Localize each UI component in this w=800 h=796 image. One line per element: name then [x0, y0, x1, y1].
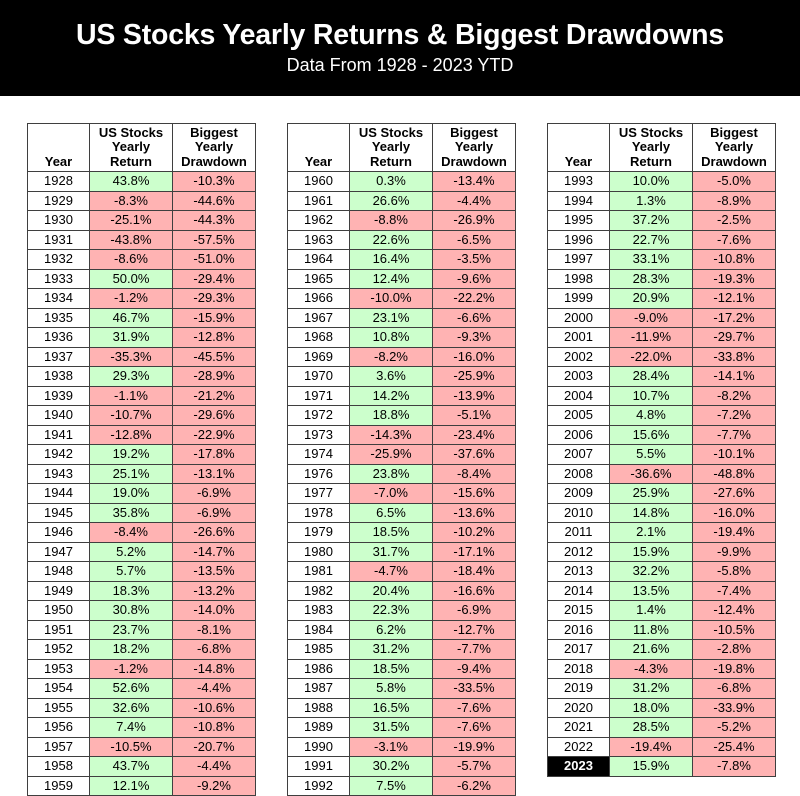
year-cell: 1993	[548, 172, 610, 192]
biggest-drawdown-cell: -5.1%	[433, 406, 516, 426]
yearly-return-cell: -22.0%	[610, 347, 693, 367]
biggest-drawdown-cell: -19.3%	[693, 269, 776, 289]
year-cell: 1987	[288, 679, 350, 699]
year-cell: 1964	[288, 250, 350, 270]
year-cell: 1960	[288, 172, 350, 192]
yearly-return-cell: 31.7%	[350, 542, 433, 562]
yearly-return-cell: 30.2%	[350, 757, 433, 777]
biggest-drawdown-cell: -13.6%	[433, 503, 516, 523]
yearly-return-cell: -25.9%	[350, 445, 433, 465]
table-row: 194419.0%-6.9%	[28, 484, 256, 504]
header-line: Drawdown	[433, 155, 515, 170]
biggest-drawdown-cell: -29.3%	[173, 289, 256, 309]
yearly-return-cell: 20.9%	[610, 289, 693, 309]
biggest-drawdown-cell: -48.8%	[693, 464, 776, 484]
biggest-drawdown-cell: -7.2%	[693, 406, 776, 426]
yearly-return-cell: 5.7%	[90, 562, 173, 582]
biggest-drawdown-cell: -8.2%	[693, 386, 776, 406]
biggest-drawdown-cell: -12.7%	[433, 620, 516, 640]
page-title: US Stocks Yearly Returns & Biggest Drawd…	[76, 21, 724, 51]
year-cell: 1932	[28, 250, 90, 270]
year-cell: 1951	[28, 620, 90, 640]
table-row: 194535.8%-6.9%	[28, 503, 256, 523]
table-row: 200615.6%-7.7%	[548, 425, 776, 445]
biggest-drawdown-cell: -14.1%	[693, 367, 776, 387]
yearly-return-cell: -7.0%	[350, 484, 433, 504]
table-row: 193350.0%-29.4%	[28, 269, 256, 289]
biggest-drawdown-cell: -4.4%	[173, 679, 256, 699]
yearly-return-cell: -11.9%	[610, 328, 693, 348]
table-row: 200410.7%-8.2%	[548, 386, 776, 406]
year-cell: 1989	[288, 718, 350, 738]
header-line: Drawdown	[173, 155, 255, 170]
yearly-return-cell: -10.7%	[90, 406, 173, 426]
returns-table: YearUS StocksYearlyReturnBiggestYearlyDr…	[547, 123, 776, 777]
table-row: 2001-11.9%-29.7%	[548, 328, 776, 348]
yearly-return-cell: 14.2%	[350, 386, 433, 406]
table-row: 197114.2%-13.9%	[288, 386, 516, 406]
year-cell: 2020	[548, 698, 610, 718]
table-row: 200328.4%-14.1%	[548, 367, 776, 387]
table-row: 199130.2%-5.7%	[288, 757, 516, 777]
table-row: 1962-8.8%-26.9%	[288, 211, 516, 231]
biggest-drawdown-cell: -29.6%	[173, 406, 256, 426]
yearly-return-cell: 10.8%	[350, 328, 433, 348]
year-cell: 2005	[548, 406, 610, 426]
table-row: 192843.8%-10.3%	[28, 172, 256, 192]
biggest-drawdown-cell: -2.8%	[693, 640, 776, 660]
table-row: 19567.4%-10.8%	[28, 718, 256, 738]
yearly-return-cell: 5.2%	[90, 542, 173, 562]
year-cell: 1952	[28, 640, 90, 660]
yearly-return-cell: -43.8%	[90, 230, 173, 250]
biggest-drawdown-cell: -44.3%	[173, 211, 256, 231]
year-cell: 1967	[288, 308, 350, 328]
biggest-drawdown-cell: -8.1%	[173, 620, 256, 640]
header-line: Biggest	[173, 126, 255, 141]
biggest-drawdown-cell: -27.6%	[693, 484, 776, 504]
biggest-drawdown-cell: -33.8%	[693, 347, 776, 367]
yearly-return-cell: 31.5%	[350, 718, 433, 738]
table-row: 201611.8%-10.5%	[548, 620, 776, 640]
yearly-return-cell: -19.4%	[610, 737, 693, 757]
yearly-return-cell: 35.8%	[90, 503, 173, 523]
table-row: 1932-8.6%-51.0%	[28, 250, 256, 270]
year-cell: 2017	[548, 640, 610, 660]
page-subtitle: Data From 1928 - 2023 YTD	[287, 56, 514, 75]
yearly-return-cell: -8.8%	[350, 211, 433, 231]
yearly-return-cell: 31.9%	[90, 328, 173, 348]
biggest-drawdown-cell: -5.7%	[433, 757, 516, 777]
yearly-return-cell: 15.6%	[610, 425, 693, 445]
year-cell: 1937	[28, 347, 90, 367]
year-cell: 1945	[28, 503, 90, 523]
year-cell: 1996	[548, 230, 610, 250]
biggest-drawdown-cell: -8.9%	[693, 191, 776, 211]
biggest-drawdown-cell: -9.9%	[693, 542, 776, 562]
yearly-return-cell: 5.5%	[610, 445, 693, 465]
yearly-return-cell: -1.2%	[90, 289, 173, 309]
biggest-drawdown-cell: -9.2%	[173, 776, 256, 796]
year-cell: 1934	[28, 289, 90, 309]
returns-table: YearUS StocksYearlyReturnBiggestYearlyDr…	[287, 123, 516, 796]
year-cell: 2007	[548, 445, 610, 465]
yearly-return-cell: 20.4%	[350, 581, 433, 601]
year-cell: 2021	[548, 718, 610, 738]
year-cell: 1999	[548, 289, 610, 309]
table-row: 198931.5%-7.6%	[288, 718, 516, 738]
year-cell: 1968	[288, 328, 350, 348]
table-row: 2002-22.0%-33.8%	[548, 347, 776, 367]
year-cell: 1965	[288, 269, 350, 289]
table-row: 20075.5%-10.1%	[548, 445, 776, 465]
year-cell: 1941	[28, 425, 90, 445]
year-cell: 1962	[288, 211, 350, 231]
table-row: 1937-35.3%-45.5%	[28, 347, 256, 367]
table-row: 199733.1%-10.8%	[548, 250, 776, 270]
year-cell: 1974	[288, 445, 350, 465]
yearly-return-cell: 30.8%	[90, 601, 173, 621]
yearly-return-cell: 13.5%	[610, 581, 693, 601]
biggest-drawdown-cell: -16.6%	[433, 581, 516, 601]
biggest-drawdown-cell: -25.4%	[693, 737, 776, 757]
table-row: 2000-9.0%-17.2%	[548, 308, 776, 328]
table-row: 198322.3%-6.9%	[288, 601, 516, 621]
table-row: 1981-4.7%-18.4%	[288, 562, 516, 582]
biggest-drawdown-cell: -14.8%	[173, 659, 256, 679]
biggest-drawdown-cell: -16.0%	[693, 503, 776, 523]
year-cell: 1988	[288, 698, 350, 718]
table-row: 198031.7%-17.1%	[288, 542, 516, 562]
year-cell: 2015	[548, 601, 610, 621]
table-row: 198816.5%-7.6%	[288, 698, 516, 718]
yearly-return-cell: 12.4%	[350, 269, 433, 289]
yearly-return-cell: 23.7%	[90, 620, 173, 640]
table-row: 195843.7%-4.4%	[28, 757, 256, 777]
header-line: US Stocks	[610, 126, 692, 141]
biggest-drawdown-cell: -20.7%	[173, 737, 256, 757]
year-cell: 1966	[288, 289, 350, 309]
biggest-drawdown-cell: -6.9%	[433, 601, 516, 621]
year-cell: 1948	[28, 562, 90, 582]
yearly-return-cell: 18.0%	[610, 698, 693, 718]
year-cell: 1953	[28, 659, 90, 679]
table-row: 199622.7%-7.6%	[548, 230, 776, 250]
table-row: 19485.7%-13.5%	[28, 562, 256, 582]
table-row: 20054.8%-7.2%	[548, 406, 776, 426]
year-cell: 1992	[288, 776, 350, 796]
yearly-return-cell: 3.6%	[350, 367, 433, 387]
table-row: 199310.0%-5.0%	[548, 172, 776, 192]
returns-table: YearUS StocksYearlyReturnBiggestYearlyDr…	[27, 123, 256, 796]
column-header-biggest-drawdown: BiggestYearlyDrawdown	[693, 124, 776, 172]
biggest-drawdown-cell: -22.9%	[173, 425, 256, 445]
yearly-return-cell: 19.0%	[90, 484, 173, 504]
year-cell: 1971	[288, 386, 350, 406]
biggest-drawdown-cell: -6.5%	[433, 230, 516, 250]
year-cell: 1930	[28, 211, 90, 231]
yearly-return-cell: -8.3%	[90, 191, 173, 211]
year-cell: 1946	[28, 523, 90, 543]
table-row: 194325.1%-13.1%	[28, 464, 256, 484]
biggest-drawdown-cell: -26.9%	[433, 211, 516, 231]
year-cell: 1942	[28, 445, 90, 465]
table-row: 19846.2%-12.7%	[288, 620, 516, 640]
biggest-drawdown-cell: -45.5%	[173, 347, 256, 367]
yearly-return-cell: 33.1%	[610, 250, 693, 270]
year-cell: 1963	[288, 230, 350, 250]
year-cell: 2009	[548, 484, 610, 504]
yearly-return-cell: 22.6%	[350, 230, 433, 250]
biggest-drawdown-cell: -4.4%	[173, 757, 256, 777]
year-cell: 2018	[548, 659, 610, 679]
biggest-drawdown-cell: -12.4%	[693, 601, 776, 621]
year-cell: 2004	[548, 386, 610, 406]
yearly-return-cell: 31.2%	[350, 640, 433, 660]
year-cell: 1970	[288, 367, 350, 387]
table-row: 1946-8.4%-26.6%	[28, 523, 256, 543]
biggest-drawdown-cell: -29.7%	[693, 328, 776, 348]
biggest-drawdown-cell: -6.8%	[693, 679, 776, 699]
year-cell: 2000	[548, 308, 610, 328]
biggest-drawdown-cell: -5.0%	[693, 172, 776, 192]
table-row: 194219.2%-17.8%	[28, 445, 256, 465]
biggest-drawdown-cell: -14.0%	[173, 601, 256, 621]
table-row: 199920.9%-12.1%	[548, 289, 776, 309]
year-cell: 2008	[548, 464, 610, 484]
header-line: Yearly	[693, 140, 775, 155]
biggest-drawdown-cell: -8.4%	[433, 464, 516, 484]
table-row: 1973-14.3%-23.4%	[288, 425, 516, 445]
yearly-return-cell: -12.8%	[90, 425, 173, 445]
biggest-drawdown-cell: -44.6%	[173, 191, 256, 211]
year-cell: 1928	[28, 172, 90, 192]
table-row: 193829.3%-28.9%	[28, 367, 256, 387]
yearly-return-cell: -10.5%	[90, 737, 173, 757]
table-row: 197918.5%-10.2%	[288, 523, 516, 543]
table-panel-2: YearUS StocksYearlyReturnBiggestYearlyDr…	[287, 123, 516, 796]
yearly-return-cell: -8.2%	[350, 347, 433, 367]
yearly-return-cell: 11.8%	[610, 620, 693, 640]
year-cell: 1954	[28, 679, 90, 699]
table-row: 196322.6%-6.5%	[288, 230, 516, 250]
yearly-return-cell: 28.4%	[610, 367, 693, 387]
yearly-return-cell: 4.8%	[610, 406, 693, 426]
table-row: 201215.9%-9.9%	[548, 542, 776, 562]
biggest-drawdown-cell: -13.5%	[173, 562, 256, 582]
table-panel-1: YearUS StocksYearlyReturnBiggestYearlyDr…	[27, 123, 256, 796]
yearly-return-cell: 29.3%	[90, 367, 173, 387]
table-row: 193631.9%-12.8%	[28, 328, 256, 348]
column-header-year: Year	[548, 124, 610, 172]
year-cell: 1997	[548, 250, 610, 270]
biggest-drawdown-cell: -10.8%	[173, 718, 256, 738]
table-row: 195218.2%-6.8%	[28, 640, 256, 660]
table-row: 199828.3%-19.3%	[548, 269, 776, 289]
table-row: 19927.5%-6.2%	[288, 776, 516, 796]
biggest-drawdown-cell: -7.6%	[433, 698, 516, 718]
biggest-drawdown-cell: -28.9%	[173, 367, 256, 387]
biggest-drawdown-cell: -33.9%	[693, 698, 776, 718]
table-row: 20151.4%-12.4%	[548, 601, 776, 621]
biggest-drawdown-cell: -13.4%	[433, 172, 516, 192]
year-cell: 1990	[288, 737, 350, 757]
biggest-drawdown-cell: -19.4%	[693, 523, 776, 543]
table-row: 2022-19.4%-25.4%	[548, 737, 776, 757]
biggest-drawdown-cell: -21.2%	[173, 386, 256, 406]
biggest-drawdown-cell: -7.6%	[693, 230, 776, 250]
biggest-drawdown-cell: -12.1%	[693, 289, 776, 309]
biggest-drawdown-cell: -4.4%	[433, 191, 516, 211]
biggest-drawdown-cell: -33.5%	[433, 679, 516, 699]
table-row: 1940-10.7%-29.6%	[28, 406, 256, 426]
yearly-return-cell: 5.8%	[350, 679, 433, 699]
header-line: Drawdown	[693, 155, 775, 170]
biggest-drawdown-cell: -14.7%	[173, 542, 256, 562]
biggest-drawdown-cell: -10.3%	[173, 172, 256, 192]
table-header-row: YearUS StocksYearlyReturnBiggestYearlyDr…	[548, 124, 776, 172]
biggest-drawdown-cell: -25.9%	[433, 367, 516, 387]
year-cell: 2006	[548, 425, 610, 445]
biggest-drawdown-cell: -9.6%	[433, 269, 516, 289]
table-row: 195532.6%-10.6%	[28, 698, 256, 718]
biggest-drawdown-cell: -10.6%	[173, 698, 256, 718]
year-cell: 1939	[28, 386, 90, 406]
year-cell: 1983	[288, 601, 350, 621]
year-cell: 1973	[288, 425, 350, 445]
yearly-return-cell: 46.7%	[90, 308, 173, 328]
yearly-return-cell: 18.2%	[90, 640, 173, 660]
biggest-drawdown-cell: -37.6%	[433, 445, 516, 465]
biggest-drawdown-cell: -13.2%	[173, 581, 256, 601]
biggest-drawdown-cell: -7.6%	[433, 718, 516, 738]
header-line: Return	[90, 155, 172, 170]
year-cell: 2011	[548, 523, 610, 543]
yearly-return-cell: 18.3%	[90, 581, 173, 601]
table-row: 19875.8%-33.5%	[288, 679, 516, 699]
yearly-return-cell: 0.3%	[350, 172, 433, 192]
yearly-return-cell: 23.8%	[350, 464, 433, 484]
year-cell: 1940	[28, 406, 90, 426]
table-row: 195030.8%-14.0%	[28, 601, 256, 621]
table-row: 193546.7%-15.9%	[28, 308, 256, 328]
yearly-return-cell: 10.7%	[610, 386, 693, 406]
table-row: 200925.9%-27.6%	[548, 484, 776, 504]
yearly-return-cell: 31.2%	[610, 679, 693, 699]
year-cell: 2019	[548, 679, 610, 699]
year-cell: 1936	[28, 328, 90, 348]
yearly-return-cell: 22.3%	[350, 601, 433, 621]
biggest-drawdown-cell: -6.9%	[173, 503, 256, 523]
year-cell-highlighted: 2023	[548, 757, 610, 777]
header-line: Biggest	[433, 126, 515, 141]
table-row: 195123.7%-8.1%	[28, 620, 256, 640]
table-row: 2018-4.3%-19.8%	[548, 659, 776, 679]
biggest-drawdown-cell: -19.9%	[433, 737, 516, 757]
year-cell: 1944	[28, 484, 90, 504]
biggest-drawdown-cell: -6.6%	[433, 308, 516, 328]
biggest-drawdown-cell: -10.2%	[433, 523, 516, 543]
yearly-return-cell: 32.6%	[90, 698, 173, 718]
year-cell: 2022	[548, 737, 610, 757]
yearly-return-cell: 43.8%	[90, 172, 173, 192]
tables-container: YearUS StocksYearlyReturnBiggestYearlyDr…	[0, 96, 800, 768]
table-row: 1953-1.2%-14.8%	[28, 659, 256, 679]
year-cell: 1955	[28, 698, 90, 718]
table-row: 195912.1%-9.2%	[28, 776, 256, 796]
yearly-return-cell: -8.4%	[90, 523, 173, 543]
yearly-return-cell: 7.4%	[90, 718, 173, 738]
yearly-return-cell: 16.5%	[350, 698, 433, 718]
table-panel-3: YearUS StocksYearlyReturnBiggestYearlyDr…	[547, 123, 776, 777]
yearly-return-cell: 6.5%	[350, 503, 433, 523]
table-row: 196723.1%-6.6%	[288, 308, 516, 328]
yearly-return-cell: -9.0%	[610, 308, 693, 328]
table-row: 19941.3%-8.9%	[548, 191, 776, 211]
biggest-drawdown-cell: -15.6%	[433, 484, 516, 504]
year-cell: 1943	[28, 464, 90, 484]
yearly-return-cell: 43.7%	[90, 757, 173, 777]
yearly-return-cell: -3.1%	[350, 737, 433, 757]
year-cell: 1981	[288, 562, 350, 582]
yearly-return-cell: 50.0%	[90, 269, 173, 289]
table-row: 1934-1.2%-29.3%	[28, 289, 256, 309]
biggest-drawdown-cell: -7.4%	[693, 581, 776, 601]
yearly-return-cell: -8.6%	[90, 250, 173, 270]
table-row: 201014.8%-16.0%	[548, 503, 776, 523]
header-line: Yearly	[350, 140, 432, 155]
biggest-drawdown-cell: -7.8%	[693, 757, 776, 777]
yearly-return-cell: 6.2%	[350, 620, 433, 640]
yearly-return-cell: -14.3%	[350, 425, 433, 445]
table-row: 1930-25.1%-44.3%	[28, 211, 256, 231]
yearly-return-cell: 28.3%	[610, 269, 693, 289]
header-line: Return	[350, 155, 432, 170]
biggest-drawdown-cell: -5.2%	[693, 718, 776, 738]
table-row: 19600.3%-13.4%	[288, 172, 516, 192]
table-row: 19475.2%-14.7%	[28, 542, 256, 562]
yearly-return-cell: 52.6%	[90, 679, 173, 699]
year-cell: 1969	[288, 347, 350, 367]
yearly-return-cell: 16.4%	[350, 250, 433, 270]
yearly-return-cell: 2.1%	[610, 523, 693, 543]
header-line: Return	[610, 155, 692, 170]
yearly-return-cell: 22.7%	[610, 230, 693, 250]
yearly-return-cell: 21.6%	[610, 640, 693, 660]
table-row: 197623.8%-8.4%	[288, 464, 516, 484]
biggest-drawdown-cell: -10.5%	[693, 620, 776, 640]
biggest-drawdown-cell: -17.2%	[693, 308, 776, 328]
table-row: 1990-3.1%-19.9%	[288, 737, 516, 757]
table-row: 202128.5%-5.2%	[548, 718, 776, 738]
table-row: 197218.8%-5.1%	[288, 406, 516, 426]
biggest-drawdown-cell: -13.9%	[433, 386, 516, 406]
title-banner: US Stocks Yearly Returns & Biggest Drawd…	[0, 0, 800, 96]
table-row: 196810.8%-9.3%	[288, 328, 516, 348]
year-cell: 1984	[288, 620, 350, 640]
column-header-biggest-drawdown: BiggestYearlyDrawdown	[173, 124, 256, 172]
biggest-drawdown-cell: -9.4%	[433, 659, 516, 679]
yearly-return-cell: 10.0%	[610, 172, 693, 192]
yearly-return-cell: 25.1%	[90, 464, 173, 484]
table-row: 19786.5%-13.6%	[288, 503, 516, 523]
table-row: 201721.6%-2.8%	[548, 640, 776, 660]
year-cell: 1929	[28, 191, 90, 211]
year-cell: 1979	[288, 523, 350, 543]
table-row: 201931.2%-6.8%	[548, 679, 776, 699]
table-row: 1977-7.0%-15.6%	[288, 484, 516, 504]
yearly-return-cell: 18.5%	[350, 659, 433, 679]
